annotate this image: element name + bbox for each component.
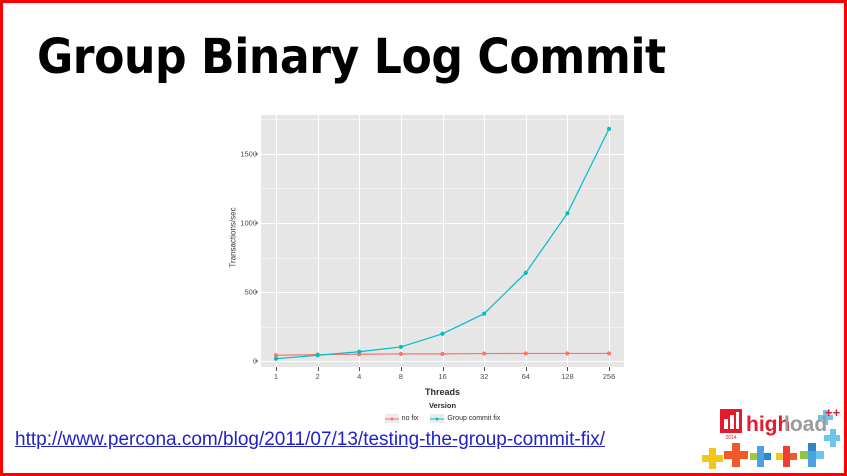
logo-word-load: load [784,413,827,436]
y-tick-label: 1000 [223,219,257,228]
chart-series-svg [261,115,624,367]
x-tick-mark [276,367,277,371]
data-point [482,351,486,355]
x-tick-label: 1 [274,372,278,381]
legend-key-swatch [430,414,444,423]
chart-container: Transactions/sec 050010001500 1248163264… [215,111,635,431]
data-point [565,211,569,215]
data-point [399,352,403,356]
highload-logo: 2014 high load ++ [700,397,840,469]
x-tick-mark [567,367,568,371]
legend-label: Group commit fix [447,415,500,422]
x-axis-label: Threads [261,387,624,397]
legend-key-swatch [385,414,399,423]
data-point [274,357,278,361]
data-point [440,332,444,336]
x-tick-label: 2 [316,372,320,381]
slide: Group Binary Log Commit Transactions/sec… [0,0,847,476]
data-point [524,271,528,275]
data-point [357,350,361,354]
data-point [316,353,320,357]
y-tick-mark [255,223,258,224]
chart-legend: Version no fixGroup commit fix [261,401,624,423]
x-tick-mark [526,367,527,371]
legend-items: no fixGroup commit fix [261,414,624,423]
x-tick-mark [443,367,444,371]
x-axis-ticks: 1248163264128256 [261,367,624,389]
y-axis-ticks: 050010001500 [215,111,257,371]
x-tick-mark [401,367,402,371]
data-point [607,127,611,131]
x-tick-label: 128 [561,372,574,381]
highload-mark-icon: 2014 [720,409,742,441]
y-tick-label: 1500 [223,149,257,158]
x-tick-mark [359,367,360,371]
page-title: Group Binary Log Commit [37,29,666,85]
data-point [440,352,444,356]
x-tick-label: 64 [522,372,530,381]
source-url-link[interactable]: http://www.percona.com/blog/2011/07/13/t… [15,429,605,451]
x-tick-label: 16 [438,372,446,381]
data-point [607,351,611,355]
y-tick-label: 0 [223,357,257,366]
legend-item[interactable]: no fix [385,414,419,423]
data-point [565,351,569,355]
legend-title: Version [261,401,624,410]
highload-logo-svg: 2014 high load ++ [700,397,840,469]
series-line-group-commit-fix [276,129,609,359]
y-tick-mark [255,292,258,293]
x-tick-label: 4 [357,372,361,381]
logo-year: 2014 [725,435,736,441]
y-tick-mark [255,361,258,362]
data-point [482,312,486,316]
x-tick-mark [484,367,485,371]
x-tick-label: 32 [480,372,488,381]
logo-plus-plus: ++ [825,405,840,420]
x-tick-label: 256 [603,372,616,381]
legend-label: no fix [402,415,419,422]
legend-item[interactable]: Group commit fix [430,414,500,423]
x-tick-mark [318,367,319,371]
x-tick-mark [609,367,610,371]
data-point [399,345,403,349]
chart-plot-panel [261,115,624,367]
y-tick-label: 500 [223,288,257,297]
data-point [524,351,528,355]
y-tick-mark [255,153,258,154]
x-tick-label: 8 [399,372,403,381]
